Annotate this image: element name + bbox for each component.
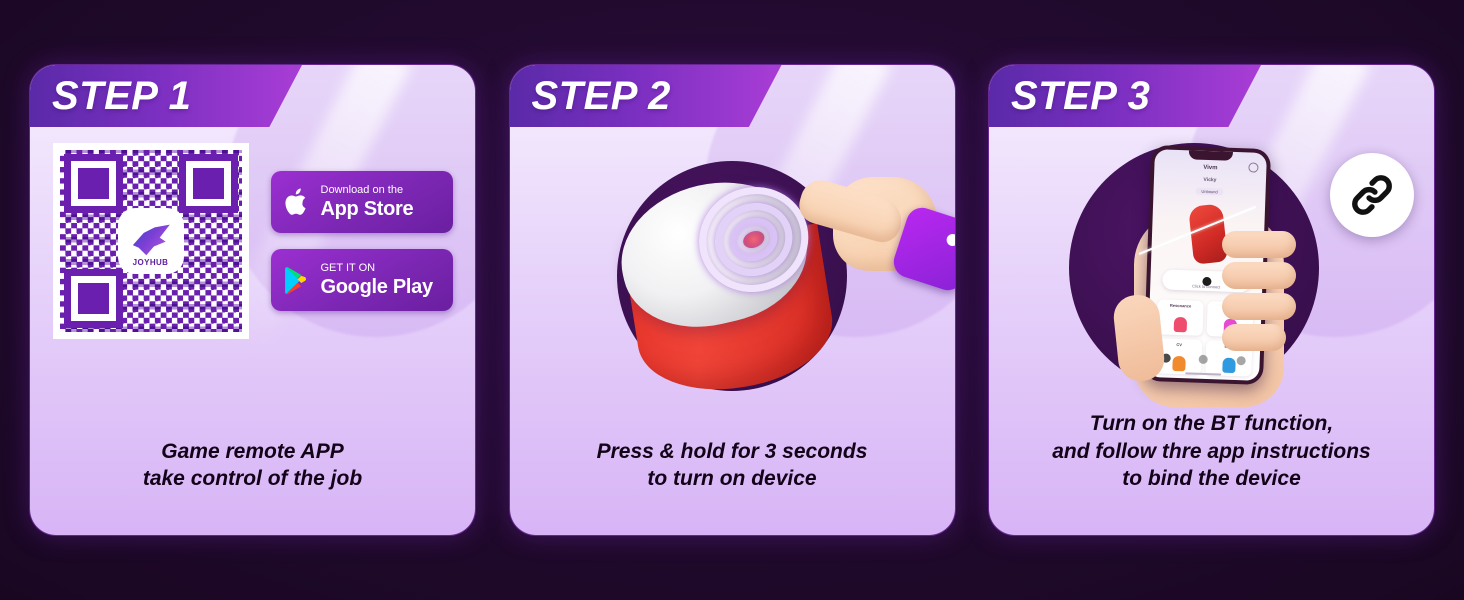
step-2-visual — [510, 127, 955, 438]
step-card-1: STEP 1 JOYHUB — [30, 65, 475, 535]
link-icon — [1347, 170, 1397, 220]
qr-center-logo: JOYHUB — [121, 211, 181, 271]
qr-finder-bottom-left — [64, 269, 123, 328]
app-status-chip: Unbound — [1195, 187, 1223, 195]
qr-finder-top-left — [64, 154, 123, 213]
app-store-text: Download on the App Store — [321, 185, 414, 219]
mode-tile[interactable]: Resonance — [1156, 299, 1203, 336]
qr-finder-top-right — [179, 154, 238, 213]
finger-4 — [1222, 324, 1286, 351]
qr-code[interactable]: JOYHUB — [53, 143, 249, 339]
step-label-2: STEP 2 — [532, 74, 671, 119]
step-3-caption-line-3: to bind the device — [989, 465, 1434, 493]
step-1-caption-line-1: Game remote APP — [30, 438, 475, 466]
step-ribbon-1: STEP 1 — [30, 65, 302, 127]
step-3-visual: Vivm Vicky Unbound Click to connect Reso… — [989, 127, 1434, 410]
phone-notch — [1188, 150, 1232, 161]
link-callout-bubble — [1330, 153, 1414, 237]
qr-matrix: JOYHUB — [60, 150, 242, 332]
step-1-caption: Game remote APP take control of the job — [30, 438, 475, 535]
step-2-caption: Press & hold for 3 seconds to turn on de… — [510, 438, 955, 535]
step-ribbon-3: STEP 3 — [989, 65, 1261, 127]
home-indicator — [1185, 372, 1221, 375]
app-device-name: Vicky — [1153, 175, 1265, 185]
step-1-caption-line-2: take control of the job — [30, 465, 475, 493]
step-3-caption: Turn on the BT function, and follow thre… — [989, 410, 1434, 535]
finger-2 — [1222, 262, 1296, 289]
step-card-2: STEP 2 — [510, 65, 955, 535]
holding-hand: Vivm Vicky Unbound Click to connect Reso… — [1082, 145, 1332, 415]
step-ribbon-2: STEP 2 — [510, 65, 782, 127]
step-card-3: STEP 3 Vivm Vicky Unbound — [989, 65, 1434, 535]
tab-control-icon[interactable] — [1199, 354, 1208, 363]
step-card-2-body: Press & hold for 3 seconds to turn on de… — [510, 127, 955, 535]
step-2-caption-line-2: to turn on device — [510, 465, 955, 493]
mode-tile-label: Resonance — [1157, 302, 1203, 309]
steps-banner: STEP 1 JOYHUB — [0, 0, 1464, 600]
store-badges: Download on the App Store — [271, 171, 453, 311]
app-store-badge[interactable]: Download on the App Store — [271, 171, 453, 233]
finger-3 — [1222, 293, 1296, 320]
google-play-text: GET IT ON Google Play — [321, 263, 433, 297]
brand-name: JOYHUB — [133, 258, 169, 267]
step-1-visual: JOYHUB — [30, 127, 475, 438]
google-play-badge[interactable]: GET IT ON Google Play — [271, 249, 453, 311]
google-play-small-label: GET IT ON — [321, 263, 433, 274]
app-store-big-label: App Store — [321, 199, 414, 219]
app-store-small-label: Download on the — [321, 185, 414, 196]
finger-1 — [1222, 231, 1296, 258]
google-play-big-label: Google Play — [321, 277, 433, 297]
qr-and-badges-row: JOYHUB — [30, 143, 475, 339]
step-label-1: STEP 1 — [52, 74, 191, 119]
step-card-1-body: JOYHUB — [30, 127, 475, 535]
mode-tile-icon — [1173, 317, 1187, 332]
step-label-3: STEP 3 — [1011, 74, 1150, 119]
google-play-icon — [284, 266, 310, 295]
step-2-caption-line-1: Press & hold for 3 seconds — [510, 438, 955, 466]
step-3-caption-line-2: and follow thre app instructions — [989, 438, 1434, 466]
pressing-hand — [785, 171, 955, 301]
fingers — [1222, 231, 1306, 381]
step-card-3-body: Vivm Vicky Unbound Click to connect Reso… — [989, 127, 1434, 535]
dolphin-icon — [130, 224, 172, 258]
apple-icon — [284, 187, 310, 217]
